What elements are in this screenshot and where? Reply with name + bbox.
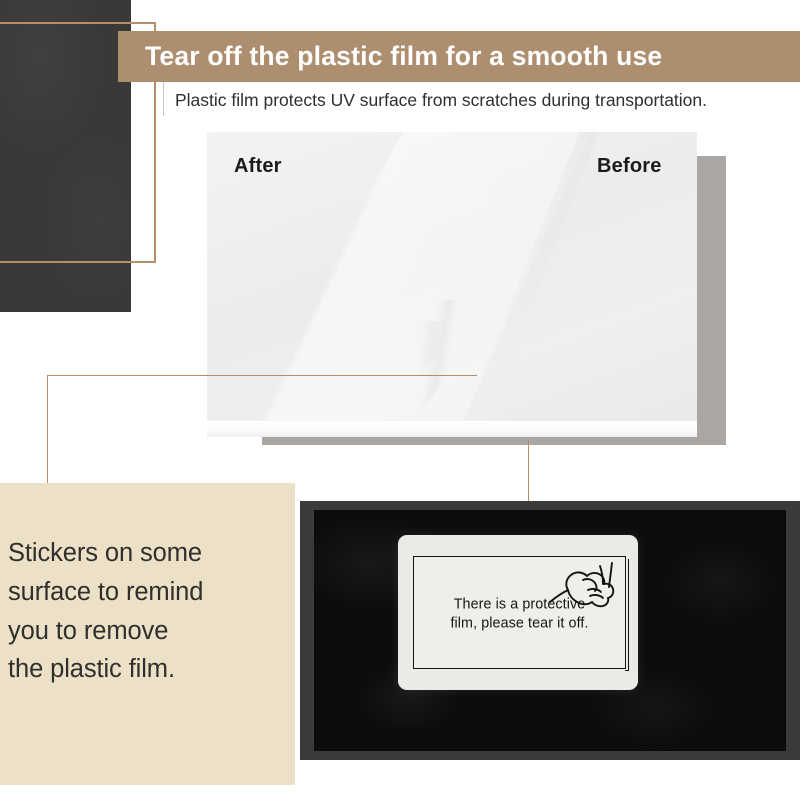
decor-frame-bottom-line bbox=[0, 261, 156, 263]
warning-sticker: There is a protective film, please tear … bbox=[398, 535, 638, 690]
sticker-line-2: film, please tear it off. bbox=[414, 614, 625, 633]
sticker-border-box: There is a protective film, please tear … bbox=[413, 556, 626, 669]
dark-accent-block bbox=[0, 0, 131, 312]
callout-line-3: you to remove bbox=[8, 612, 290, 651]
subtitle-divider bbox=[163, 82, 164, 116]
product-photo-background: There is a protective film, please tear … bbox=[314, 510, 786, 751]
connector-vertical-line-left bbox=[47, 375, 48, 485]
header-banner: Tear off the plastic film for a smooth u… bbox=[118, 31, 800, 82]
connector-horizontal-line bbox=[47, 375, 477, 376]
whiteboard-bottom-edge bbox=[207, 421, 697, 437]
connector-vertical-line-right bbox=[528, 440, 529, 502]
sticker-text: There is a protective film, please tear … bbox=[414, 595, 625, 633]
label-before: Before bbox=[597, 155, 662, 178]
callout-line-4: the plastic film. bbox=[8, 650, 290, 689]
decor-frame-top-line bbox=[0, 22, 156, 24]
subtitle-text: Plastic film protects UV surface from sc… bbox=[175, 89, 800, 112]
product-photo-frame: There is a protective film, please tear … bbox=[300, 501, 800, 760]
page-title: Tear off the plastic film for a smooth u… bbox=[145, 43, 662, 70]
infographic-canvas: Tear off the plastic film for a smooth u… bbox=[0, 0, 800, 800]
callout-text: Stickers on some surface to remind you t… bbox=[8, 534, 290, 689]
sticker-line-1: There is a protective bbox=[414, 595, 625, 614]
callout-line-1: Stickers on some bbox=[8, 534, 290, 573]
label-after: After bbox=[234, 155, 282, 178]
callout-line-2: surface to remind bbox=[8, 573, 290, 612]
